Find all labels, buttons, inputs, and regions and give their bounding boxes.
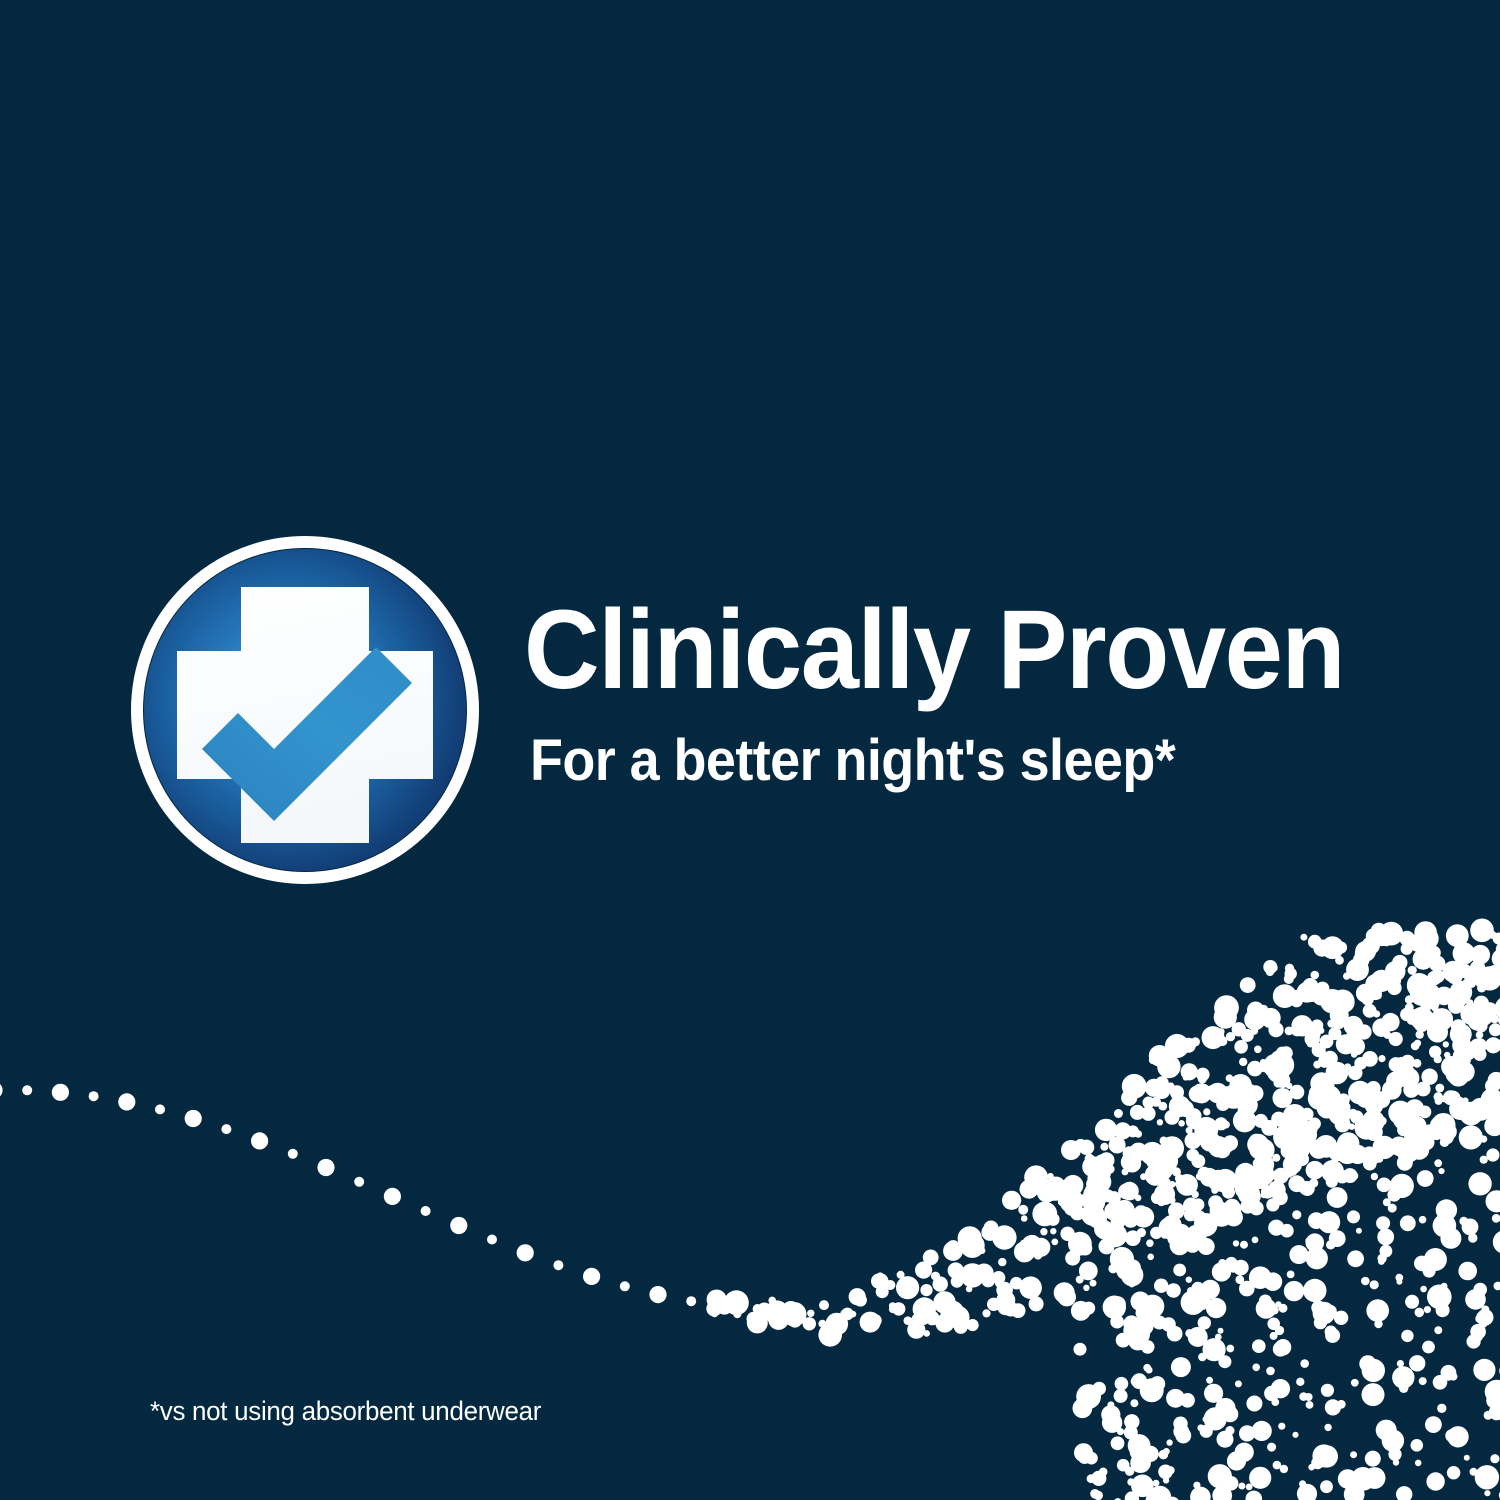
page-subtitle: For a better night's sleep* [530,732,1380,790]
clinically-proven-seal [124,529,486,891]
footnote-disclaimer: *vs not using absorbent underwear [150,1396,541,1427]
page-title: Clinically Proven [524,594,1384,706]
headline-block: Clinically Proven For a better night's s… [524,594,1444,790]
poster-canvas: Clinically Proven For a better night's s… [0,0,1500,1500]
